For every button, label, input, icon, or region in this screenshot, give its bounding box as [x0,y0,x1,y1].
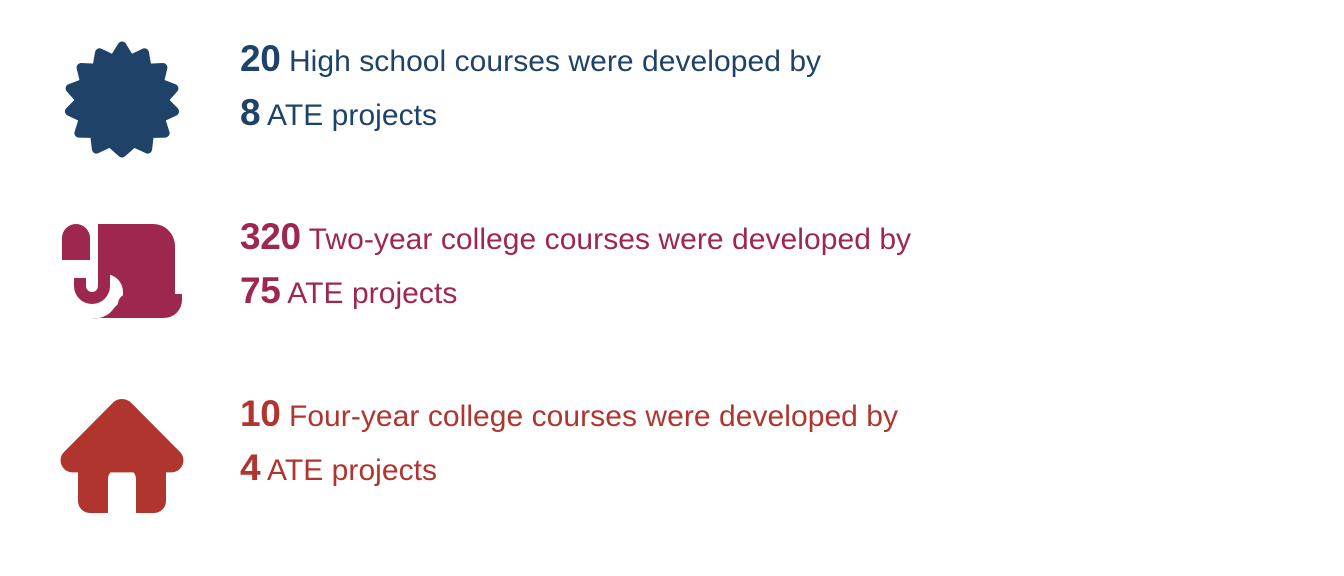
scroll-document-shape [62,224,182,318]
stat-row: 20 High school courses were developed by… [0,34,1344,164]
stat-line-secondary: 8 ATE projects [240,94,1344,131]
stat-text-cell: 20 High school courses were developed by… [240,34,1344,131]
stat-text-cell: 10 Four-year college courses were develo… [240,389,1344,486]
stat-line-primary: 10 Four-year college courses were develo… [240,395,1344,432]
stat-line-primary: 20 High school courses were developed by [240,40,1344,77]
starburst-badge-icon [58,34,186,164]
stat-row: 320 Two-year college courses were develo… [0,212,1344,330]
stat-number-secondary: 8 [240,92,260,133]
stat-line-primary: 320 Two-year college courses were develo… [240,218,1344,255]
infographic-root: 20 High school courses were developed by… [0,0,1344,576]
stat-text-secondary: ATE projects [281,277,458,310]
scroll-tab [62,224,90,260]
stat-number-primary: 10 [240,393,281,434]
house-icon [58,389,186,521]
stat-number-secondary: 75 [240,270,281,311]
stat-text-primary: Two-year college courses were developed … [301,223,911,256]
house-base-with-door [78,451,166,513]
stat-text-secondary: ATE projects [260,99,437,132]
stat-icon-cell [0,34,240,164]
stat-number-secondary: 4 [240,447,260,488]
house-shape [61,399,184,513]
stat-line-secondary: 4 ATE projects [240,449,1344,486]
stat-line-secondary: 75 ATE projects [240,272,1344,309]
stat-text-cell: 320 Two-year college courses were develo… [240,212,1344,309]
stat-text-primary: High school courses were developed by [281,45,822,78]
stat-number-primary: 320 [240,216,301,257]
stat-text-primary: Four-year college courses were developed… [281,400,899,433]
scroll-document-icon [58,212,186,330]
stat-text-secondary: ATE projects [260,454,437,487]
stat-icon-cell [0,389,240,521]
stat-icon-cell [0,212,240,330]
stat-number-primary: 20 [240,38,281,79]
starburst-badge-shape [69,46,174,153]
stat-row: 10 Four-year college courses were develo… [0,389,1344,521]
